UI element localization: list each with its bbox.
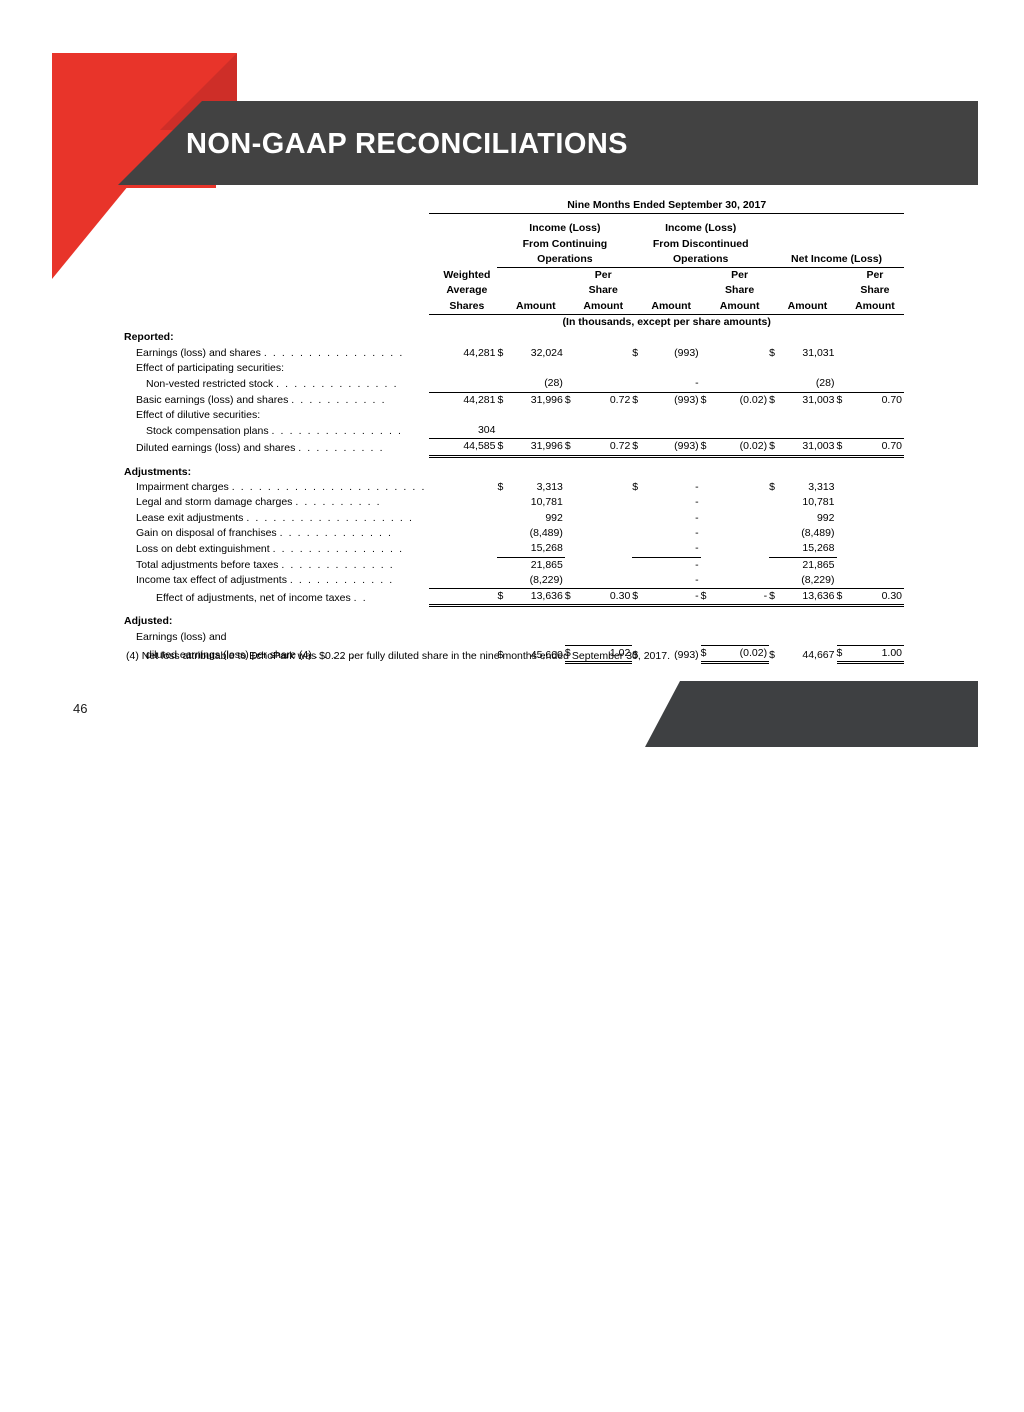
currency-symbol: [497, 361, 506, 376]
currency-symbol: [769, 573, 778, 589]
currency-symbol: [769, 376, 778, 392]
units-note-row: (In thousands, except per share amounts): [124, 315, 904, 331]
table-cell-value: (28): [778, 376, 836, 392]
table-cell-value: 1.00: [846, 646, 904, 663]
col-shares-line-3: Shares: [436, 299, 497, 315]
currency-symbol: [429, 573, 436, 589]
table-cell-value: [710, 361, 769, 376]
currency-symbol: [701, 376, 711, 392]
table-cell-value: [778, 630, 836, 646]
table-cell-value: 44,281: [436, 392, 497, 408]
currency-symbol: [565, 557, 574, 573]
currency-symbol: [837, 526, 846, 541]
table-cell-value: [778, 408, 836, 423]
currency-symbol: $: [565, 589, 574, 606]
currency-symbol: [769, 526, 778, 541]
table-cell-value: -: [642, 495, 701, 510]
currency-symbol: $: [497, 392, 506, 408]
currency-symbol: [565, 573, 574, 589]
col-header-row-2: Average Share Share Share: [124, 283, 904, 298]
col-ps3-line-2: Share: [846, 283, 904, 298]
row-label: Diluted earnings (loss) and shares . . .…: [124, 439, 429, 456]
section-heading: Reported:: [124, 330, 429, 345]
non-gaap-reconciliation-table: Nine Months Ended September 30, 2017 Inc…: [124, 198, 904, 664]
currency-symbol: $: [837, 646, 846, 663]
table-cell-value: 0.30: [846, 589, 904, 606]
table-cell-value: 10,781: [778, 495, 836, 510]
table-cell-value: 44,281: [436, 346, 497, 361]
table-cell-value: [574, 361, 632, 376]
section-heading-row: Reported:: [124, 330, 904, 345]
table-cell-value: 0.30: [574, 589, 632, 606]
currency-symbol: $: [565, 392, 574, 408]
col-ps3-line-3: Amount: [846, 299, 904, 315]
currency-symbol: $: [497, 589, 506, 606]
currency-symbol: [565, 526, 574, 541]
currency-symbol: $: [565, 439, 574, 456]
table-cell-value: [574, 423, 632, 439]
table-cell-value: (993): [642, 392, 701, 408]
table-cell-value: [846, 408, 904, 423]
row-label: Effect of participating securities:: [124, 361, 429, 376]
currency-symbol: [565, 376, 574, 392]
table-row: Legal and storm damage charges . . . . .…: [124, 495, 904, 510]
currency-symbol: [769, 408, 778, 423]
currency-symbol: [701, 526, 711, 541]
currency-symbol: [632, 511, 642, 526]
currency-symbol: $: [701, 392, 711, 408]
table-cell-value: (0.02): [710, 646, 769, 663]
currency-symbol: [497, 573, 506, 589]
table-cell-value: (8,229): [778, 573, 836, 589]
currency-symbol: [837, 376, 846, 392]
table-cell-value: [574, 408, 632, 423]
table-cell-value: [710, 480, 769, 495]
group-header-3-line-1: [769, 221, 904, 236]
currency-symbol: [565, 361, 574, 376]
currency-symbol: $: [769, 480, 778, 495]
table-cell-value: 15,268: [778, 541, 836, 557]
currency-symbol: $: [497, 439, 506, 456]
currency-symbol: [429, 423, 436, 439]
col-amount-3: Amount: [778, 299, 836, 315]
table-cell-value: [710, 526, 769, 541]
table-cell-value: 31,996: [507, 439, 565, 456]
table-cell-value: [710, 423, 769, 439]
period-header-row: Nine Months Ended September 30, 2017: [124, 198, 904, 214]
currency-symbol: [497, 630, 506, 646]
table-cell-value: -: [642, 480, 701, 495]
section-heading-row: Adjusted:: [124, 614, 904, 629]
table-cell-value: [710, 376, 769, 392]
table-cell-value: [778, 423, 836, 439]
row-label: Income tax effect of adjustments . . . .…: [124, 573, 429, 589]
currency-symbol: $: [769, 589, 778, 606]
table-cell-value: [436, 573, 497, 589]
currency-symbol: [769, 630, 778, 646]
currency-symbol: $: [769, 392, 778, 408]
currency-symbol: $: [632, 346, 642, 361]
currency-symbol: [837, 480, 846, 495]
footer-bar: Sonic Automotive EchoPark AUTOMOTIVE: [645, 681, 978, 747]
table-cell-value: [574, 541, 632, 557]
currency-symbol: $: [769, 646, 778, 663]
table-cell-value: [846, 541, 904, 557]
table-cell-value: 992: [778, 511, 836, 526]
currency-symbol: [429, 480, 436, 495]
col-ps2-line-3: Amount: [710, 299, 769, 315]
table-cell-value: [846, 511, 904, 526]
table-cell-value: [574, 376, 632, 392]
table-cell-value: [710, 541, 769, 557]
currency-symbol: [497, 541, 506, 557]
currency-symbol: [565, 630, 574, 646]
table-cell-value: -: [642, 541, 701, 557]
table-cell-value: -: [642, 589, 701, 606]
table-row: Stock compensation plans . . . . . . . .…: [124, 423, 904, 439]
table-cell-value: [710, 557, 769, 573]
row-label: Legal and storm damage charges . . . . .…: [124, 495, 429, 510]
currency-symbol: $: [769, 346, 778, 361]
table-row: Impairment charges . . . . . . . . . . .…: [124, 480, 904, 495]
row-label: Earnings (loss) and shares . . . . . . .…: [124, 346, 429, 361]
currency-symbol: [769, 423, 778, 439]
currency-symbol: [837, 423, 846, 439]
table-cell-value: [436, 495, 497, 510]
currency-symbol: [429, 346, 436, 361]
table-cell-value: [642, 408, 701, 423]
table-cell-value: [846, 526, 904, 541]
table-cell-value: [846, 423, 904, 439]
currency-symbol: $: [497, 480, 506, 495]
group-header-3-line-3: Net Income (Loss): [769, 252, 904, 268]
table-cell-value: [710, 408, 769, 423]
currency-symbol: $: [497, 346, 506, 361]
currency-symbol: [632, 541, 642, 557]
table-cell-value: [710, 630, 769, 646]
col-ps2-line-1: Per: [710, 268, 769, 284]
table-cell-value: [436, 511, 497, 526]
currency-symbol: [837, 541, 846, 557]
table-row: Gain on disposal of franchises . . . . .…: [124, 526, 904, 541]
group-header-1-line-1: Income (Loss): [497, 221, 632, 236]
currency-symbol: [565, 541, 574, 557]
table-cell-value: [507, 630, 565, 646]
currency-symbol: [701, 361, 711, 376]
table-cell-value: [846, 495, 904, 510]
currency-symbol: [429, 630, 436, 646]
table-cell-value: -: [642, 511, 701, 526]
currency-symbol: [565, 480, 574, 495]
currency-symbol: [837, 346, 846, 361]
table-cell-value: (8,489): [778, 526, 836, 541]
table-row: Basic earnings (loss) and shares . . . .…: [124, 392, 904, 408]
currency-symbol: [837, 511, 846, 526]
group-header-2-line-3: Operations: [632, 252, 769, 268]
currency-symbol: [632, 423, 642, 439]
table-cell-value: 15,268: [507, 541, 565, 557]
table-cell-value: [710, 346, 769, 361]
table-cell-value: (0.02): [710, 439, 769, 456]
table-cell-value: 10,781: [507, 495, 565, 510]
table-cell-value: (8,229): [507, 573, 565, 589]
table-cell-value: [642, 361, 701, 376]
table-row: Income tax effect of adjustments . . . .…: [124, 573, 904, 589]
currency-symbol: [701, 511, 711, 526]
row-label: Loss on debt extinguishment . . . . . . …: [124, 541, 429, 557]
col-header-row-1: Weighted Per Per Per: [124, 268, 904, 284]
spacer-row: [124, 456, 904, 465]
section-heading: Adjustments:: [124, 465, 429, 480]
table-cell-value: [436, 408, 497, 423]
currency-symbol: $: [769, 439, 778, 456]
section-heading-row: Adjustments:: [124, 465, 904, 480]
currency-symbol: [701, 346, 711, 361]
currency-symbol: [701, 557, 711, 573]
table-row: Earnings (loss) and: [124, 630, 904, 646]
currency-symbol: [497, 557, 506, 573]
col-amount-1: Amount: [507, 299, 565, 315]
col-shares-line-1: Weighted: [436, 268, 497, 284]
currency-symbol: [429, 408, 436, 423]
currency-symbol: $: [701, 589, 711, 606]
table-cell-value: [436, 526, 497, 541]
table-cell-value: -: [642, 557, 701, 573]
period-header: Nine Months Ended September 30, 2017: [429, 198, 904, 214]
row-label: Impairment charges . . . . . . . . . . .…: [124, 480, 429, 495]
col-ps1-line-2: Share: [574, 283, 632, 298]
currency-symbol: $: [837, 392, 846, 408]
col-amount-2: Amount: [642, 299, 701, 315]
table-cell-value: (0.02): [710, 392, 769, 408]
table-cell-value: [846, 376, 904, 392]
table-cell-value: [507, 361, 565, 376]
currency-symbol: $: [632, 589, 642, 606]
col-shares-line-2: Average: [436, 283, 497, 298]
currency-symbol: $: [632, 392, 642, 408]
table-cell-value: -: [642, 573, 701, 589]
table-cell-value: -: [642, 376, 701, 392]
table-cell-value: 13,636: [507, 589, 565, 606]
currency-symbol: [497, 495, 506, 510]
table-cell-value: [507, 423, 565, 439]
group-header-row-1: Income (Loss) Income (Loss): [124, 221, 904, 236]
table-cell-value: -: [642, 526, 701, 541]
currency-symbol: [701, 408, 711, 423]
currency-symbol: [632, 376, 642, 392]
currency-symbol: [632, 495, 642, 510]
currency-symbol: [565, 408, 574, 423]
currency-symbol: [632, 557, 642, 573]
currency-symbol: [429, 511, 436, 526]
row-label: Earnings (loss) and: [124, 630, 429, 646]
table-cell-value: [436, 589, 497, 606]
currency-symbol: [429, 495, 436, 510]
currency-symbol: [565, 346, 574, 361]
currency-symbol: [429, 541, 436, 557]
table-cell-value: [846, 480, 904, 495]
currency-symbol: [701, 423, 711, 439]
table-cell-value: 44,585: [436, 439, 497, 456]
currency-symbol: [632, 573, 642, 589]
table-cell-value: [778, 361, 836, 376]
currency-symbol: $: [632, 480, 642, 495]
currency-symbol: [632, 630, 642, 646]
table-cell-value: [642, 630, 701, 646]
table-cell-value: 3,313: [507, 480, 565, 495]
currency-symbol: [701, 480, 711, 495]
group-header-3-line-2: [769, 237, 904, 252]
currency-symbol: [565, 423, 574, 439]
currency-symbol: [837, 361, 846, 376]
table-cell-value: [574, 480, 632, 495]
table-cell-value: [846, 557, 904, 573]
currency-symbol: [837, 408, 846, 423]
table-cell-value: [574, 526, 632, 541]
table-row: Loss on debt extinguishment . . . . . . …: [124, 541, 904, 557]
table-cell-value: (8,489): [507, 526, 565, 541]
currency-symbol: [701, 541, 711, 557]
page-number: 46: [73, 701, 87, 716]
currency-symbol: [497, 526, 506, 541]
table-cell-value: 304: [436, 423, 497, 439]
table-cell-value: [846, 346, 904, 361]
table-row: Earnings (loss) and shares . . . . . . .…: [124, 346, 904, 361]
table-cell-value: [574, 557, 632, 573]
table-cell-value: [436, 630, 497, 646]
table-cell-value: 31,996: [507, 392, 565, 408]
currency-symbol: [429, 526, 436, 541]
col-ps2-line-2: Share: [710, 283, 769, 298]
table-row: Effect of participating securities:: [124, 361, 904, 376]
table-cell-value: [436, 541, 497, 557]
currency-symbol: [701, 495, 711, 510]
table-row: Non-vested restricted stock . . . . . . …: [124, 376, 904, 392]
currency-symbol: [837, 630, 846, 646]
group-header-row-2: From Continuing From Discontinued: [124, 237, 904, 252]
table-row: Effect of dilutive securities:: [124, 408, 904, 423]
spacer-row: [124, 606, 904, 615]
table-cell-value: 44,667: [778, 646, 836, 663]
table-cell-value: [574, 346, 632, 361]
col-ps3-line-1: Per: [846, 268, 904, 284]
currency-symbol: [429, 361, 436, 376]
table-cell-value: 32,024: [507, 346, 565, 361]
table-cell-value: [574, 630, 632, 646]
currency-symbol: [837, 557, 846, 573]
section-heading: Adjusted:: [124, 614, 429, 629]
table-cell-value: [436, 557, 497, 573]
group-header-2-line-1: Income (Loss): [632, 221, 769, 236]
currency-symbol: [632, 526, 642, 541]
currency-symbol: [497, 376, 506, 392]
spacer-row: [124, 214, 904, 222]
currency-symbol: [769, 361, 778, 376]
units-note: (In thousands, except per share amounts): [429, 315, 904, 331]
currency-symbol: [497, 511, 506, 526]
group-header-row-3: Operations Operations Net Income (Loss): [124, 252, 904, 268]
currency-symbol: [701, 573, 711, 589]
currency-symbol: [497, 408, 506, 423]
table-cell-value: (993): [642, 346, 701, 361]
table-cell-value: 13,636: [778, 589, 836, 606]
table-cell-value: [846, 573, 904, 589]
currency-symbol: [565, 511, 574, 526]
col-header-row-3: Shares Amount Amount Amount Amount Amoun…: [124, 299, 904, 315]
currency-symbol: [429, 589, 436, 606]
row-label: Stock compensation plans . . . . . . . .…: [124, 423, 429, 439]
col-ps1-line-1: Per: [574, 268, 632, 284]
table-row: Effect of adjustments, net of income tax…: [124, 589, 904, 606]
row-label: Gain on disposal of franchises . . . . .…: [124, 526, 429, 541]
currency-symbol: $: [837, 589, 846, 606]
table-row: Total adjustments before taxes . . . . .…: [124, 557, 904, 573]
table-cell-value: [574, 495, 632, 510]
table-cell-value: [642, 423, 701, 439]
title-bar: NON-GAAP RECONCILIATIONS: [118, 101, 978, 185]
table-cell-value: 992: [507, 511, 565, 526]
currency-symbol: [632, 361, 642, 376]
page-title: NON-GAAP RECONCILIATIONS: [186, 128, 628, 161]
currency-symbol: [837, 495, 846, 510]
table-row: Diluted earnings (loss) and shares . . .…: [124, 439, 904, 456]
row-label: Effect of dilutive securities:: [124, 408, 429, 423]
table-row: Lease exit adjustments . . . . . . . . .…: [124, 511, 904, 526]
table-cell-value: 0.70: [846, 439, 904, 456]
table-cell-value: (28): [507, 376, 565, 392]
currency-symbol: [429, 439, 436, 456]
table-cell-value: 21,865: [507, 557, 565, 573]
row-label: Effect of adjustments, net of income tax…: [124, 589, 429, 606]
currency-symbol: $: [701, 646, 711, 663]
currency-symbol: [429, 557, 436, 573]
currency-symbol: [769, 541, 778, 557]
table-cell-value: 0.70: [846, 392, 904, 408]
row-label: Total adjustments before taxes . . . . .…: [124, 557, 429, 573]
currency-symbol: [497, 423, 506, 439]
currency-symbol: [429, 376, 436, 392]
row-label: Basic earnings (loss) and shares . . . .…: [124, 392, 429, 408]
group-header-1-line-2: From Continuing: [497, 237, 632, 252]
table-cell-value: 0.72: [574, 439, 632, 456]
table-cell-value: [436, 361, 497, 376]
table-cell-value: [710, 511, 769, 526]
table-cell-value: 31,031: [778, 346, 836, 361]
row-label: Non-vested restricted stock . . . . . . …: [124, 376, 429, 392]
currency-symbol: $: [632, 439, 642, 456]
table-cell-value: [574, 511, 632, 526]
currency-symbol: [565, 495, 574, 510]
table-cell-value: [846, 630, 904, 646]
group-header-1-line-3: Operations: [497, 252, 632, 268]
footnote: (4) Net loss attributable to EchoPark wa…: [126, 650, 670, 662]
table-cell-value: [710, 573, 769, 589]
table-cell-value: (993): [642, 439, 701, 456]
table-cell-value: [846, 361, 904, 376]
currency-symbol: [632, 408, 642, 423]
table-cell-value: [436, 480, 497, 495]
table-cell-value: 21,865: [778, 557, 836, 573]
currency-symbol: [769, 557, 778, 573]
currency-symbol: $: [837, 439, 846, 456]
currency-symbol: [769, 511, 778, 526]
currency-symbol: [429, 392, 436, 408]
table-cell-value: [507, 408, 565, 423]
col-ps1-line-3: Amount: [574, 299, 632, 315]
currency-symbol: [769, 495, 778, 510]
table-cell-value: [436, 376, 497, 392]
table-cell-value: 31,003: [778, 439, 836, 456]
